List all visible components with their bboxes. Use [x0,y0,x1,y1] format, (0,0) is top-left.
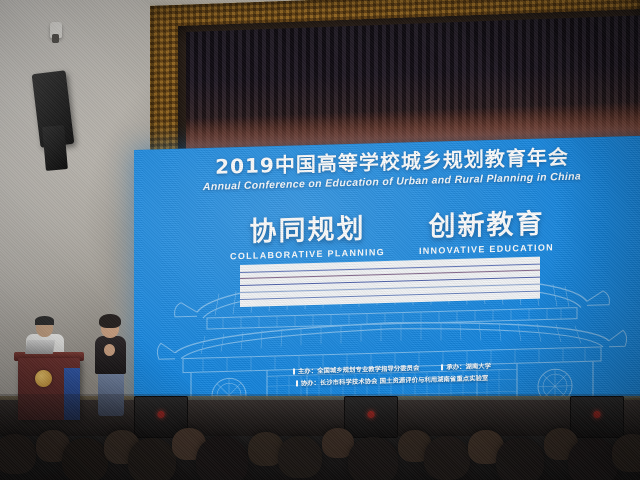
wall-speaker-lower-icon [42,125,68,171]
speaker-at-podium-hair [35,316,54,325]
conference-photo-scene: 2019中国高等学校城乡规划教育年会 Annual Conference on … [0,0,640,480]
audience-head [496,438,544,480]
audience-head [424,436,470,480]
audience-head [62,438,108,480]
audience-section [0,394,640,480]
screen-glitch-band [240,257,540,307]
standing-presenter-hands [104,344,115,356]
podium-emblem-icon [35,370,52,387]
laptop-on-podium [25,340,55,354]
led-presentation-screen: 2019中国高等学校城乡规划教育年会 Annual Conference on … [134,136,640,412]
ceiling-camera-icon [50,22,62,38]
audience-head [278,436,322,478]
slogan-1-chinese: 协同规划 [230,215,385,246]
slogan-item-1: 协同规划 COLLABORATIVE PLANNING [230,215,385,261]
audience-head [612,434,640,472]
audience-head [0,434,36,474]
slogan-2-chinese: 创新教育 [419,210,554,241]
audience-head [568,438,618,480]
audience-head [196,436,248,480]
slogan-item-2: 创新教育 INNOVATIVE EDUCATION [419,210,554,256]
audience-head [348,437,398,480]
standing-presenter-hair [99,314,121,328]
audience-head [128,438,176,480]
